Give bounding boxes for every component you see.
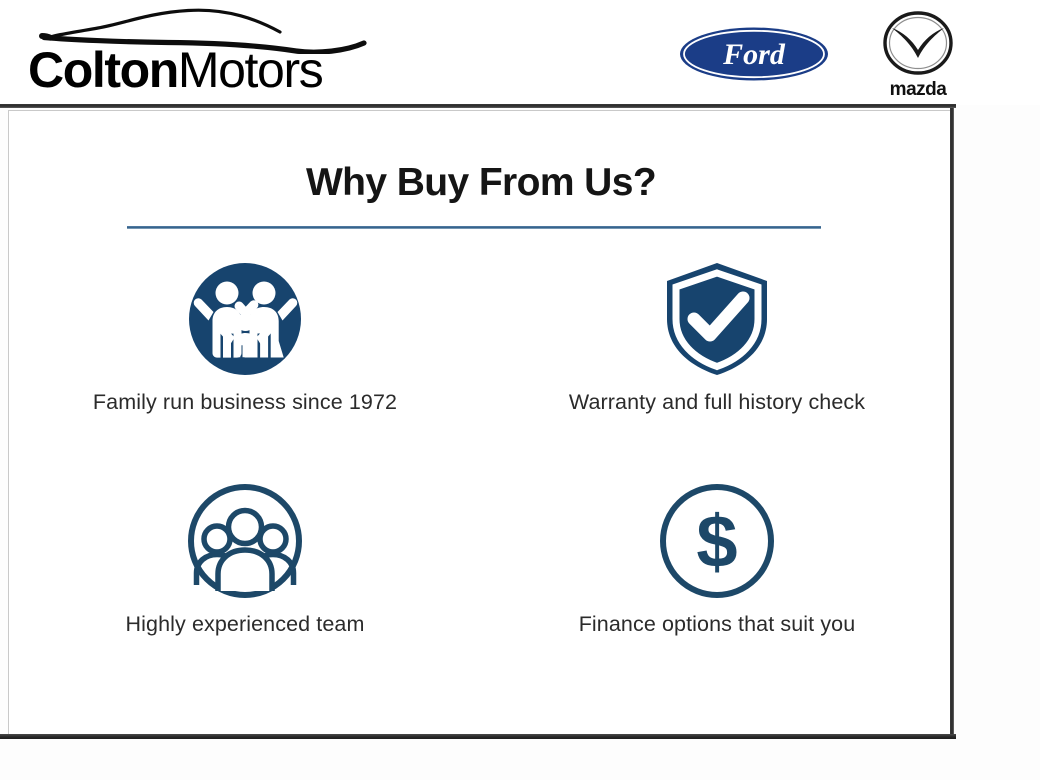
feature-icon-wrap: $ — [657, 481, 777, 601]
title-underline — [127, 226, 821, 229]
panel-bottom-border — [0, 734, 956, 739]
page-title: Why Buy From Us? — [9, 161, 953, 205]
panel-right-border — [950, 108, 954, 738]
team-people-icon — [185, 481, 305, 601]
mazda-wordmark: mazda — [890, 79, 948, 100]
feature-caption: Highly experienced team — [80, 609, 410, 640]
dealer-name-second: Motors — [178, 42, 322, 98]
feature-item-finance: $ Finance options that suit you — [481, 481, 953, 703]
feature-item-team: Highly experienced team — [9, 481, 481, 703]
dealer-logo[interactable]: ColtonMotors — [28, 6, 388, 102]
feature-caption: Family run business since 1972 — [75, 387, 415, 418]
feature-icon-wrap — [186, 259, 304, 379]
content-panel: Why Buy From Us? — [8, 110, 952, 735]
header-divider — [0, 104, 956, 108]
dollar-circle-icon: $ — [657, 481, 777, 601]
family-icon — [186, 260, 304, 378]
feature-item-warranty: Warranty and full history check — [481, 259, 953, 481]
dealer-wordmark: ColtonMotors — [28, 42, 322, 98]
page-header: ColtonMotors Ford mazda — [0, 0, 1040, 105]
feature-item-family: Family run business since 1972 — [9, 259, 481, 481]
shield-check-icon — [655, 257, 779, 381]
feature-icon-wrap — [185, 481, 305, 601]
feature-caption: Warranty and full history check — [552, 387, 882, 418]
mazda-logo[interactable]: mazda — [872, 10, 964, 100]
feature-caption: Finance options that suit you — [552, 609, 882, 640]
dollar-glyph: $ — [696, 500, 737, 583]
features-grid: Family run business since 1972 Warranty … — [9, 259, 953, 703]
ford-wordmark: Ford — [722, 38, 786, 71]
dealer-name-first: Colton — [28, 42, 178, 98]
ford-oval-logo[interactable]: Ford — [678, 26, 830, 82]
feature-icon-wrap — [655, 259, 779, 379]
